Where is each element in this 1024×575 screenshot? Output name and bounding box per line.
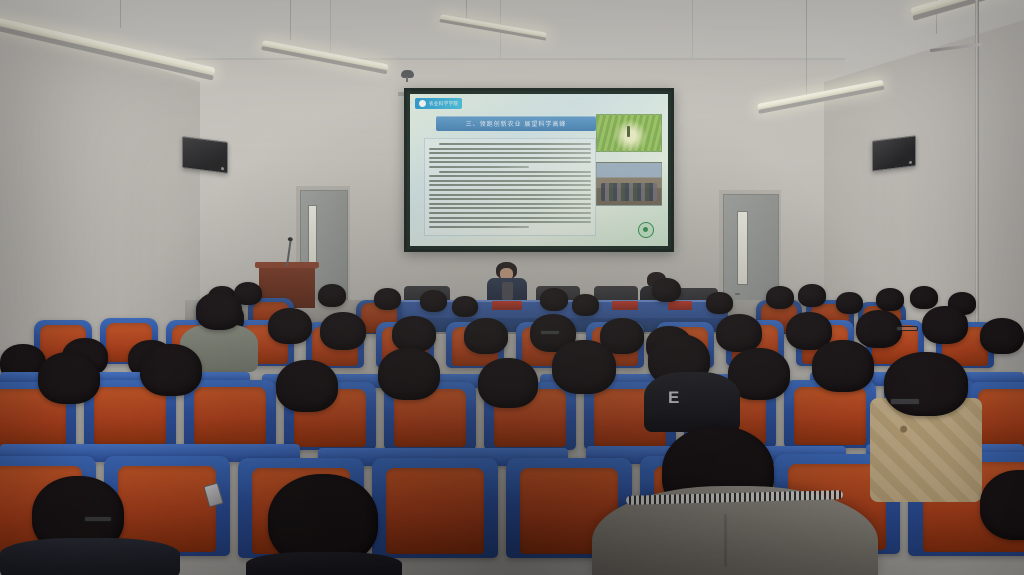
audience-person [452,296,478,317]
text-line [429,180,591,182]
slide-title-band: 三、领跑创新农业 展望科学高峰 [436,116,596,131]
audience-person [420,290,447,312]
audience-person [38,352,100,404]
text-line [429,148,591,150]
audience-person [922,306,968,344]
hoodie-seam [724,514,727,567]
slide-crowd-photo [596,162,662,206]
text-line [429,207,591,209]
left-door-window [308,205,317,269]
audience-person-dark-jacket [644,372,740,432]
audience-person [464,318,508,354]
wall-camera-icon [401,70,414,78]
text-line [429,212,591,214]
text-line [429,217,591,219]
glasses-icon [896,326,918,331]
audience-person [374,288,401,310]
name-placard-left [492,301,522,310]
foreground-person-gray-hoodie [592,486,878,575]
audience-person [552,340,616,394]
right-door-handle[interactable] [735,293,740,295]
audience-person [276,360,338,412]
audience-person [716,314,762,352]
slide-seal-icon [638,222,654,238]
text-line [429,226,529,228]
text-line [429,198,591,200]
audience-person [320,312,366,350]
foreground-person-patterned-jacket-head [884,352,968,416]
audience-person [812,340,874,392]
name-placard-center [612,301,638,310]
light-wire-2 [290,0,291,40]
slide-field-photo [596,114,662,152]
audience-person [268,308,312,344]
audience-person [652,278,681,302]
text-line [429,157,591,159]
audience-person [572,294,599,316]
audience-person [798,284,826,307]
text-line [429,189,591,191]
support-pole [975,0,979,330]
slide-body-text [424,138,596,236]
text-line [429,221,591,223]
text-line [429,161,591,163]
text-line [429,152,591,154]
projection-screen: 农业科学学院 三、领跑创新农业 展望科学高峰 [404,88,674,252]
audience-person [478,358,538,408]
audience-person [706,292,733,314]
glasses-icon [890,398,920,405]
text-line [439,171,591,173]
foreground-person-center-shoulders [246,552,402,575]
audience-person [140,344,202,396]
text-line [429,184,591,186]
seat[interactable] [372,458,498,558]
wall-speaker-left [182,136,228,174]
audience-person [540,288,568,311]
text-line [429,166,529,168]
glasses-icon [540,330,560,335]
right-door-window [737,211,748,285]
foreground-person-left-shoulders [0,538,180,575]
logo-mark-icon [419,100,426,107]
light-wire-3 [466,0,467,18]
lecture-hall-photo: 农业科学学院 三、领跑创新农业 展望科学高峰 [0,0,1024,575]
audience-person [980,318,1024,354]
text-line [429,194,591,196]
slide-logo-text: 农业科学学院 [429,101,458,107]
wall-speaker-right [872,135,916,171]
presentation-slide: 农业科学学院 三、领跑创新农业 展望科学高峰 [410,94,668,246]
audience-person [392,316,436,352]
light-wire-1 [120,0,121,28]
foreground-person-right-edge [980,470,1024,540]
text-line [429,175,591,177]
text-line [429,203,591,205]
glasses-icon [84,516,112,522]
hoodie-drawstring-band [626,491,844,506]
audience-person [196,292,242,330]
audience-person [378,348,440,400]
light-wire-4 [806,0,807,104]
speaker-shirt [502,282,513,300]
name-placard-right [668,301,692,310]
jacket-print-text: E [668,388,680,408]
audience-person [766,286,794,309]
slide-title-text: 三、领跑创新农业 展望科学高峰 [466,119,567,128]
ceiling-seam-3 [692,0,693,58]
text-line [439,143,591,145]
slide-institution-logo: 农业科学学院 [415,98,462,109]
audience-person [318,284,346,307]
audience-person [876,288,904,311]
